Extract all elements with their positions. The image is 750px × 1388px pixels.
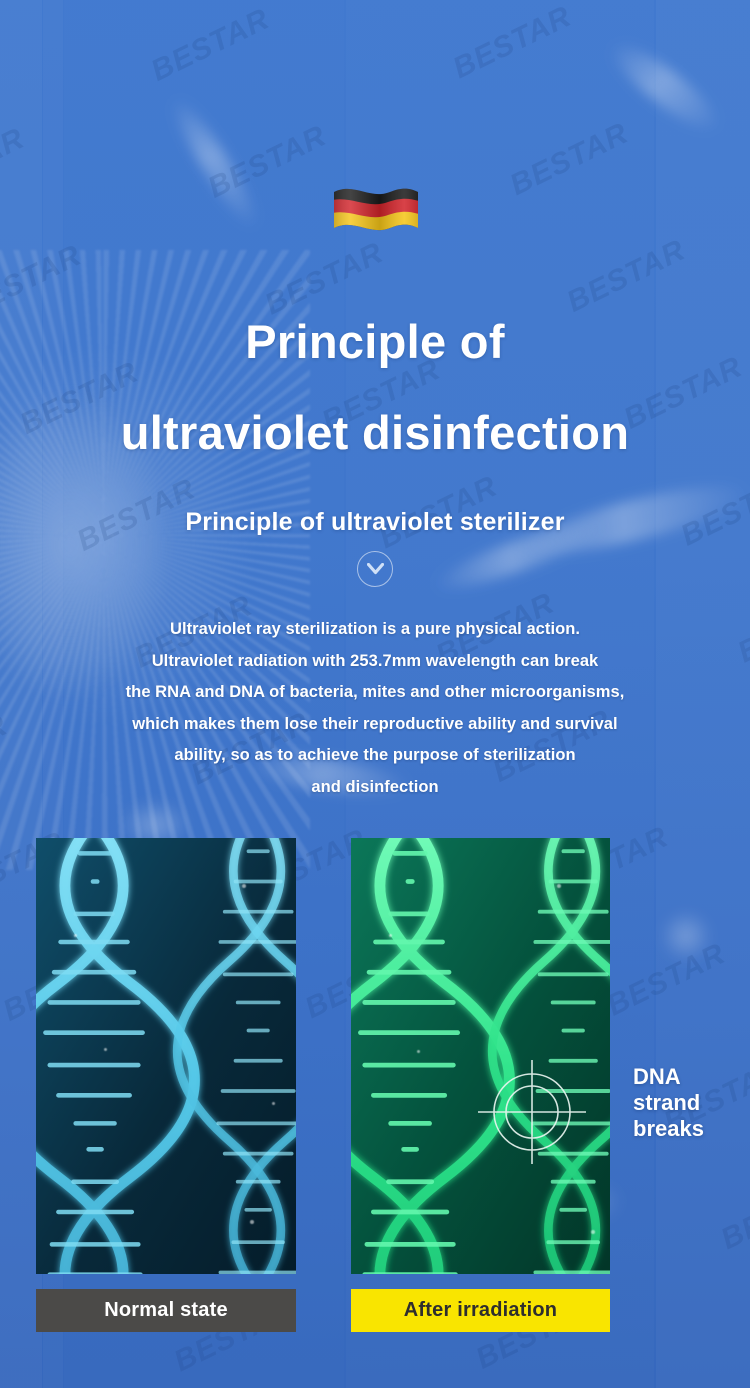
content-layer: Principle of ultraviolet disinfection Pr… (0, 0, 750, 1388)
dna-label-line-3: breaks (633, 1116, 743, 1142)
page-root: BESTAR BESTAR BESTAR BESTAR BESTAR BESTA… (0, 0, 750, 1388)
page-subtitle: Principle of ultraviolet sterilizer (0, 508, 750, 537)
dna-image-irradiated (351, 838, 610, 1274)
image-speck (557, 884, 561, 888)
image-speck (417, 1050, 420, 1053)
image-speck (272, 1102, 275, 1105)
page-title-line-1: Principle of (245, 315, 505, 368)
image-speck (74, 934, 77, 937)
page-title-line-2: ultraviolet disinfection (0, 388, 750, 478)
image-speck (250, 1220, 254, 1224)
dna-image-normal (36, 838, 296, 1274)
body-line: the RNA and DNA of bacteria, mites and o… (0, 677, 750, 709)
body-paragraph: Ultraviolet ray sterilization is a pure … (0, 614, 750, 803)
dna-label-line-2: strand (633, 1090, 743, 1116)
german-flag-icon (0, 182, 750, 252)
chevron-down-icon (357, 551, 393, 587)
page-title: Principle of ultraviolet disinfection (0, 297, 750, 477)
image-speck (104, 1048, 107, 1051)
caption-after-irradiation: After irradiation (351, 1289, 610, 1332)
body-line: and disinfection (0, 772, 750, 804)
dna-strand-breaks-label: DNA strand breaks (633, 1064, 743, 1142)
body-line: Ultraviolet ray sterilization is a pure … (0, 614, 750, 646)
body-line: which makes them lose their reproductive… (0, 709, 750, 741)
caption-normal-state: Normal state (36, 1289, 296, 1332)
image-speck (591, 1230, 595, 1234)
dna-label-line-1: DNA (633, 1064, 743, 1090)
image-speck (242, 884, 246, 888)
dna-helix-blue (36, 838, 296, 1274)
image-speck (389, 934, 392, 937)
body-line: Ultraviolet radiation with 253.7mm wavel… (0, 646, 750, 678)
body-line: ability, so as to achieve the purpose of… (0, 740, 750, 772)
dna-helix-green (351, 838, 610, 1274)
